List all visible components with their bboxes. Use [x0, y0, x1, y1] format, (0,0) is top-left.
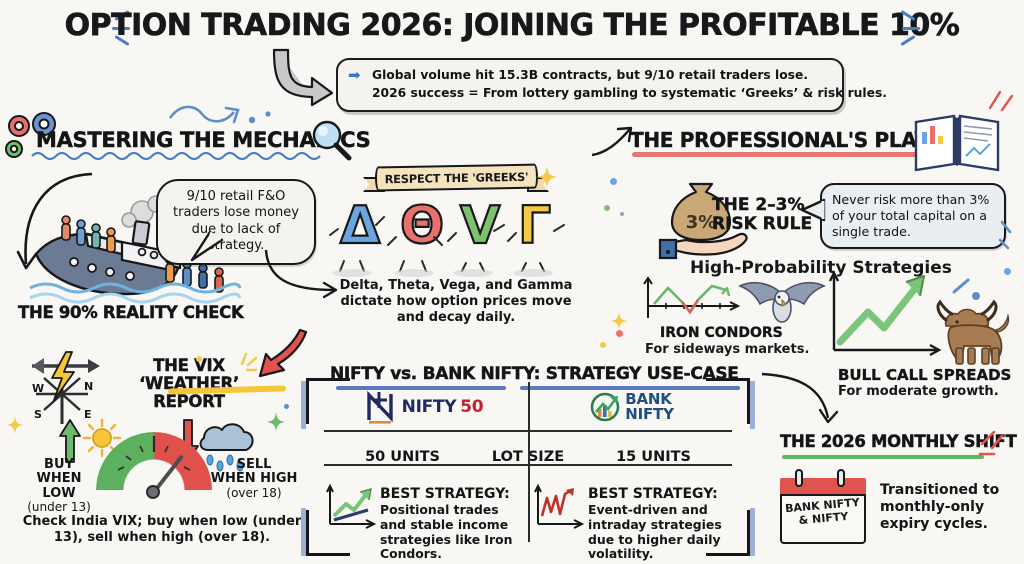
- risk-rule-line-1: THE 2–3%: [712, 196, 812, 215]
- sparkle-icon-1: [536, 166, 558, 188]
- calendar-icon: BANK NIFTY & NIFTY: [780, 478, 866, 544]
- strategy-body-banknifty: Event-driven and intraday strategies due…: [588, 502, 722, 562]
- decor-dot-3: [620, 212, 624, 216]
- svg-text:S: S: [34, 408, 42, 421]
- decor-dot-7: [1004, 268, 1011, 275]
- wavy-underline-blue: [32, 150, 322, 160]
- risk-rule-title: THE 2–3% RISK RULE: [712, 196, 812, 234]
- curved-arrow-icon: [268, 48, 338, 106]
- nifty50-logo-cell: NIFTY 50: [320, 384, 528, 430]
- bubble-tail-reality: [186, 232, 226, 264]
- shift-description: Transitioned to monthly-only expiry cycl…: [880, 482, 1010, 533]
- vix-sell-line-1: SELL: [208, 458, 300, 472]
- decor-dot-4: [616, 330, 623, 337]
- subtitle-callout: ➡ Global volume hit 15.3B contracts, but…: [336, 58, 844, 112]
- nifty50-logo-number: 50: [460, 397, 483, 417]
- vix-heading-line-2: REPORT: [104, 393, 274, 411]
- bank-nifty-line-2: NIFTY: [625, 407, 673, 422]
- sparkle-icon-2: [610, 312, 628, 330]
- svg-text:N: N: [84, 380, 93, 393]
- risk-rule-line-2: RISK RULE: [712, 215, 812, 234]
- table-hline-2: [324, 464, 732, 466]
- uptrend-chart-icon: [324, 486, 376, 534]
- bank-nifty-logo-text: BANK NIFTY: [625, 392, 673, 423]
- gauge-hub: [146, 485, 160, 499]
- vix-sell-line-2: WHEN HIGH: [208, 472, 300, 486]
- strategy-sub-bull-call-spreads: For moderate growth.: [838, 384, 999, 399]
- sparkle-icon-4: [6, 416, 24, 434]
- iron-condor-chart-icon: [640, 278, 750, 330]
- vix-sell-label: SELL WHEN HIGH (over 18): [208, 458, 300, 500]
- banner-label: RESPECT THE 'GREEKS': [385, 169, 529, 186]
- eagle-icon: [738, 278, 826, 330]
- infographic-canvas: OPTION TRADING 2026: JOINING THE PROFITA…: [0, 0, 1024, 564]
- comparison-table: NIFTY 50 BANK NIFTY: [306, 378, 750, 556]
- table-vertical-divider: [528, 382, 530, 542]
- decor-dot-2: [604, 205, 610, 211]
- table-inner: NIFTY 50 BANK NIFTY: [306, 378, 750, 556]
- decor-dot-8: [196, 356, 202, 362]
- blue-tick-decor-icon: [996, 218, 1020, 252]
- greek-characters-limbs: [330, 205, 580, 273]
- banknifty-logo-cell: BANK NIFTY: [528, 384, 736, 430]
- strategy-header-banknifty: BEST STRATEGY:: [588, 486, 732, 503]
- greeks-caption: Delta, Theta, Vega, and Gamma dictate ho…: [336, 278, 576, 326]
- arrow-to-playbook-icon: [592, 125, 634, 159]
- red-spark-icon: [978, 428, 1012, 458]
- calendar-rings: [780, 470, 866, 486]
- svg-text:W: W: [32, 382, 44, 395]
- subtitle-line-2: 2026 success = From lottery gambling to …: [372, 85, 830, 103]
- strategy-cell-banknifty: BEST STRATEGY: Event-driven and intraday…: [528, 482, 736, 562]
- lot-size-left: 50 UNITS: [320, 449, 485, 465]
- vix-buy-line-1: BUY: [18, 458, 100, 472]
- bubble-tail-risk: [800, 198, 826, 222]
- red-tick-decor-icon: [986, 86, 1016, 116]
- vix-gauge: [96, 432, 212, 494]
- greeks-banner: RESPECT THE 'GREEKS': [363, 163, 549, 193]
- table-hline-1: [324, 430, 732, 432]
- magnifier-icon: [310, 118, 354, 162]
- strategy-cell-nifty: BEST STRATEGY: Positional trades and sta…: [320, 482, 528, 562]
- vix-buy-label: BUY WHEN LOW (under 13): [18, 458, 100, 514]
- blue-dash-decor-icon: [950, 276, 984, 306]
- arrow-to-shift-icon: [760, 370, 850, 432]
- caption-reality-check: THE 90% REALITY CHECK: [18, 303, 243, 322]
- nifty50-logo-text: NIFTY: [402, 397, 457, 417]
- squiggle-arrow-icon: [168, 98, 278, 132]
- open-book-icon: [912, 112, 1002, 174]
- vix-footnote: Check India VIX; buy when low (under 13)…: [22, 514, 302, 547]
- strategy-header-nifty: BEST STRATEGY:: [380, 486, 524, 503]
- strategy-text-banknifty: BEST STRATEGY: Event-driven and intraday…: [588, 486, 732, 562]
- banner-ribbon: RESPECT THE 'GREEKS': [375, 164, 538, 192]
- subtitle-line-1: Global volume hit 15.3B contracts, but 9…: [372, 67, 830, 85]
- nifty-logo-icon: [365, 390, 399, 424]
- weather-vane-icon: W N S E: [22, 348, 108, 426]
- vix-buy-line-2: WHEN LOW: [18, 472, 100, 501]
- green-underline: [782, 455, 984, 459]
- right-arrow-icon: ➡: [348, 68, 361, 83]
- bull-icon: [930, 300, 1014, 366]
- bank-nifty-logo-icon: [590, 392, 620, 422]
- volatile-chart-icon: [532, 486, 584, 534]
- strategy-body-nifty: Positional trades and stable income stra…: [380, 502, 512, 562]
- decor-dot-1: [610, 178, 617, 185]
- vix-buy-sub: (under 13): [18, 501, 100, 514]
- bull-call-chart-icon: [826, 272, 946, 364]
- title-spark-right-icon: [894, 10, 924, 48]
- risk-rule-bubble: Never risk more than 3% of your total ca…: [820, 183, 1006, 249]
- strategy-sub-iron-condors: For sideways markets.: [645, 342, 809, 357]
- vix-sell-sub: (over 18): [208, 487, 300, 500]
- decor-dot-5: [600, 342, 606, 348]
- red-underline: [632, 152, 922, 157]
- strategy-name-bull-call-spreads: BULL CALL SPREADS: [838, 366, 1011, 384]
- strategy-name-iron-condors: IRON CONDORS: [660, 325, 783, 341]
- sparkle-icon-3: [266, 412, 286, 432]
- yellow-sparkle-lines-icon: [232, 352, 258, 376]
- decor-dot-6: [284, 404, 289, 409]
- strategy-text-nifty: BEST STRATEGY: Positional trades and sta…: [380, 486, 524, 562]
- lot-size-right: 15 UNITS: [571, 449, 736, 465]
- page-title: OPTION TRADING 2026: JOINING THE PROFITA…: [0, 8, 1024, 43]
